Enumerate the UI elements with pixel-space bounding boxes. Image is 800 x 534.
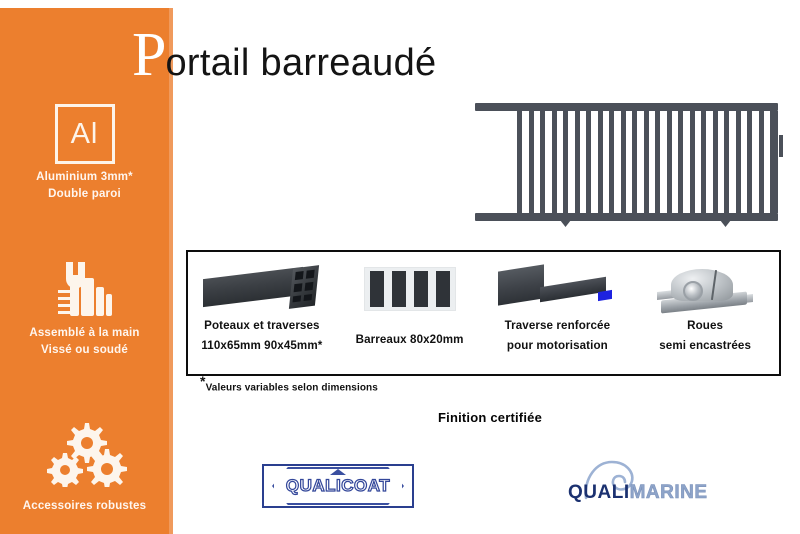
traverse-motorisation-art bbox=[484, 260, 632, 318]
gate-bar bbox=[552, 111, 557, 213]
sidebar-feature-aluminium-line2: Double paroi bbox=[0, 188, 169, 200]
aluminium-al-icon: Al bbox=[55, 104, 115, 164]
gate-bar bbox=[667, 111, 672, 213]
gate-bar bbox=[598, 111, 603, 213]
page-title-initial: P bbox=[132, 24, 166, 86]
gate-latch bbox=[779, 135, 783, 157]
qualimarine-logo-text: QUALIMARINE bbox=[568, 482, 708, 504]
barreau-slat bbox=[370, 271, 384, 307]
component-poteaux-caption-1: Poteaux et traverses bbox=[204, 318, 319, 335]
component-traverse-caption-2: pour motorisation bbox=[507, 338, 608, 355]
footnote-text: Valeurs variables selon dimensions bbox=[206, 382, 378, 393]
gate-bar bbox=[540, 111, 545, 213]
roue-semi-encastree-art bbox=[631, 260, 779, 318]
gate-bar bbox=[621, 111, 626, 213]
poteau-profile-art bbox=[188, 260, 336, 318]
component-poteaux: Poteaux et traverses 110x65mm 90x45mm* bbox=[188, 252, 336, 374]
component-roues: Roues semi encastrées bbox=[631, 252, 779, 374]
sidebar-feature-assemblage: Assemblé à la main Vissé ou soudé bbox=[0, 258, 169, 356]
component-poteaux-caption-2: 110x65mm 90x45mm* bbox=[201, 338, 322, 355]
component-barreaux-caption-1: Barreaux 80x20mm bbox=[356, 332, 464, 349]
sidebar-feature-accessoires-line1: Accessoires robustes bbox=[0, 500, 169, 512]
gate-bar bbox=[586, 111, 591, 213]
gears-icon bbox=[0, 418, 169, 490]
component-barreaux: Barreaux 80x20mm bbox=[336, 252, 484, 374]
gate-bars-group bbox=[517, 111, 775, 213]
qualimarine-logo: QUALIMARINE bbox=[560, 460, 720, 512]
al-badge-text: Al bbox=[71, 120, 99, 149]
gate-bar bbox=[529, 111, 534, 213]
barreau-slat bbox=[414, 271, 428, 307]
page-title: P ortail barreaudé bbox=[132, 24, 436, 86]
sidebar-feature-assemblage-line2: Vissé ou soudé bbox=[0, 344, 169, 356]
qualimarine-text-part1: QUALI bbox=[568, 482, 630, 503]
gate-open-section bbox=[475, 111, 517, 213]
sidebar-feature-aluminium-line1: Aluminium 3mm* bbox=[0, 171, 169, 183]
gate-bar bbox=[644, 111, 649, 213]
gate-top-rail bbox=[475, 103, 778, 111]
gate-bar bbox=[632, 111, 637, 213]
qualimarine-text-part2: MARINE bbox=[630, 482, 708, 503]
component-traverse-caption-1: Traverse renforcée bbox=[505, 318, 611, 335]
certification-heading: Finition certifiée bbox=[438, 410, 542, 425]
gate-bar bbox=[690, 111, 695, 213]
sidebar-feature-accessoires: Accessoires robustes bbox=[0, 418, 169, 512]
gate-bar bbox=[713, 111, 718, 213]
product-sheet-page: Al Aluminium 3mm* Double paroi bbox=[0, 0, 800, 534]
qualicoat-logo-text: QUALICOAT bbox=[286, 476, 390, 496]
components-box: Poteaux et traverses 110x65mm 90x45mm* B… bbox=[186, 250, 781, 376]
component-traverse: Traverse renforcée pour motorisation bbox=[484, 252, 632, 374]
component-roues-caption-1: Roues bbox=[687, 318, 723, 335]
gate-bar bbox=[517, 111, 522, 213]
gate-bottom-rail bbox=[475, 213, 778, 221]
gate-bar bbox=[747, 111, 752, 213]
component-roues-caption-2: semi encastrées bbox=[659, 338, 751, 355]
gate-wheel bbox=[560, 220, 571, 227]
gate-bar bbox=[575, 111, 580, 213]
sidebar-feature-aluminium: Al Aluminium 3mm* Double paroi bbox=[0, 104, 169, 200]
gate-bar bbox=[724, 111, 729, 213]
page-title-rest: ortail barreaudé bbox=[165, 44, 436, 82]
portail-barreaude-illustration bbox=[475, 103, 778, 221]
qualicoat-logo: QUALICOAT bbox=[262, 464, 414, 508]
gate-bar bbox=[655, 111, 660, 213]
barreau-slat bbox=[392, 271, 406, 307]
sidebar-feature-assemblage-line1: Assemblé à la main bbox=[0, 327, 169, 339]
gate-bar bbox=[678, 111, 683, 213]
wrench-assembly-icon bbox=[0, 258, 169, 320]
gate-bar bbox=[609, 111, 614, 213]
gate-bar bbox=[701, 111, 706, 213]
gate-bar bbox=[736, 111, 741, 213]
gate-bar bbox=[563, 111, 568, 213]
barreaux-art bbox=[336, 260, 484, 318]
barreau-slat bbox=[436, 271, 450, 307]
gate-wheel bbox=[720, 220, 731, 227]
gate-bar bbox=[759, 111, 764, 213]
footnote: *Valeurs variables selon dimensions bbox=[200, 381, 378, 393]
gate-right-edge bbox=[775, 111, 778, 213]
